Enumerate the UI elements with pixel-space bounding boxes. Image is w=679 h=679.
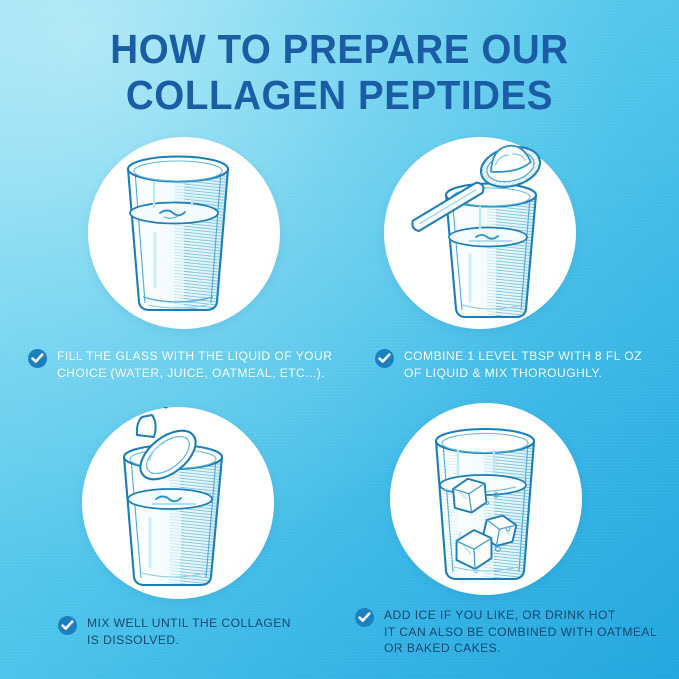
illustration-glass-with-ice (390, 403, 582, 595)
step-4-caption-text: ADD ICE IF YOU LIKE, OR DRINK HOT IT CAN… (384, 607, 657, 657)
checkmark-icon (355, 608, 374, 627)
checkmark-icon (58, 616, 77, 635)
illustration-glass-of-liquid (88, 137, 280, 329)
step-4-caption: ADD ICE IF YOU LIKE, OR DRINK HOT IT CAN… (355, 607, 660, 657)
step-3-caption-text: MIX WELL UNTIL THE COLLAGEN IS DISSOLVED… (87, 615, 291, 648)
checkmark-icon (28, 349, 47, 368)
glass-of-liquid-icon (88, 137, 280, 329)
step-2-caption-text: COMBINE 1 LEVEL TBSP WITH 8 FL OZ OF LIQ… (404, 348, 642, 381)
step-1-caption-text: FILL THE GLASS WITH THE LIQUID OF YOUR C… (57, 348, 332, 381)
step-2-caption: COMBINE 1 LEVEL TBSP WITH 8 FL OZ OF LIQ… (375, 348, 655, 381)
page-title: HOW TO PREPARE OUR COLLAGEN PEPTIDES (0, 26, 679, 118)
step-1-caption: FILL THE GLASS WITH THE LIQUID OF YOUR C… (28, 348, 338, 381)
illustration-spoon-pouring-powder (384, 137, 576, 329)
spoon-stirring-icon (82, 407, 274, 599)
spoon-pouring-powder-icon (384, 137, 576, 329)
page-title-line-1: HOW TO PREPARE OUR (20, 26, 658, 72)
illustration-spoon-stirring (82, 407, 274, 599)
poster-canvas: HOW TO PREPARE OUR COLLAGEN PEPTIDES (0, 0, 679, 679)
step-3-caption: MIX WELL UNTIL THE COLLAGEN IS DISSOLVED… (58, 615, 338, 648)
glass-with-ice-icon (390, 403, 582, 595)
checkmark-icon (375, 349, 394, 368)
page-title-line-2: COLLAGEN PEPTIDES (20, 72, 658, 118)
